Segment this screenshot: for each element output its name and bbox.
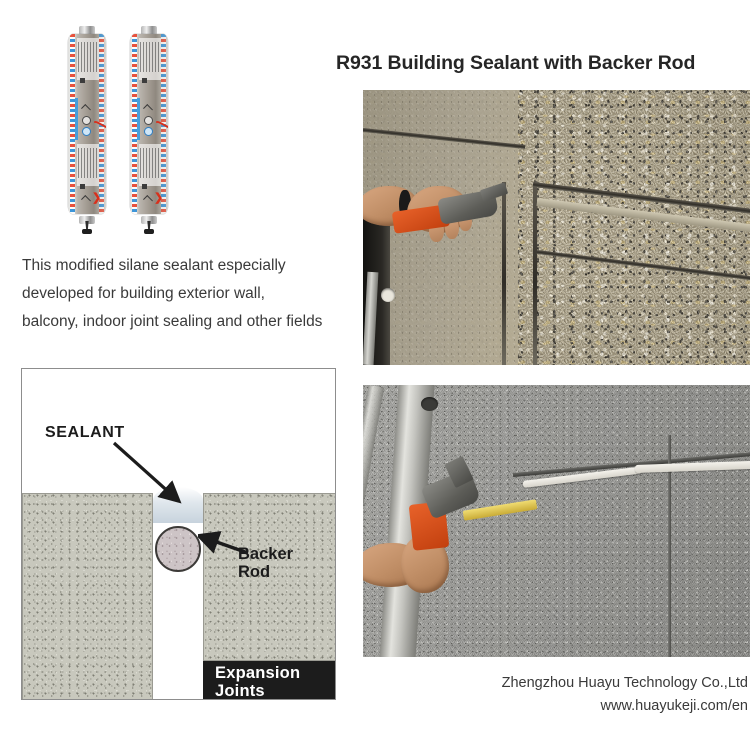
backer-rod-label-line2: Rod [238,563,293,581]
footer: Zhengzhou Huayu Technology Co.,Ltd www.h… [380,672,748,718]
product-shot: 〳 ❯ 〳 ❯ [62,26,190,244]
sealant-arrow-icon [110,439,188,509]
backer-rod-arrow-icon [198,531,252,561]
photo-applying-sealant-horizontal-joint [363,385,750,657]
expansion-joints-line1: Expansion [215,665,300,683]
chevron-up-icon-lower [81,195,91,205]
sealant-cartridge: 〳 ❯ [130,26,168,222]
cartridge-qr-block-top [142,78,147,83]
wall-joint-vertical-2 [533,186,537,365]
cartridge-qr-block-bottom [80,184,85,189]
cartridge-text-lines-top [140,42,160,72]
brand-swoosh-logo: 〳 [145,119,169,132]
description-line-3: balcony, indoor joint sealing and other … [22,308,358,336]
red-check-icon: ❯ [92,194,101,203]
backer-rod [155,526,201,572]
ladder-fitting [381,288,395,302]
cartridge-blue-band [75,98,78,140]
photo-applying-sealant-vertical-joint [363,90,750,365]
description-line-1: This modified silane sealant especially [22,252,358,280]
cartridge-nozzle-cap [144,229,154,234]
cartridge-qr-block-bottom [142,184,147,189]
cartridge-qr-block-top [80,78,85,83]
cartridge-blue-band [137,98,140,140]
company-name: Zhengzhou Huayu Technology Co.,Ltd [380,672,748,695]
wall-joint-vertical [502,182,506,365]
expansion-joints-line2: Joints [215,683,300,701]
cartridge-body: 〳 ❯ [130,34,168,214]
expansion-joints-label: Expansion Joints [215,665,300,700]
ladder-rung-hole [421,397,438,411]
description-line-2: developed for building exterior wall, [22,280,358,308]
concrete-block-left [22,493,153,700]
red-check-icon: ❯ [154,194,163,203]
brand-swoosh-logo: 〳 [83,119,107,132]
cartridge-text-lines-top [78,42,98,72]
joint-cross-section-diagram: SEALANT Backer Rod Expansion Joints [21,368,336,700]
cartridge-nozzle-cap [82,229,92,234]
cartridge-text-lines-bottom [140,148,160,178]
product-description: This modified silane sealant especially … [22,252,358,336]
chevron-up-icon [81,104,91,114]
cartridge-body: 〳 ❯ [68,34,106,214]
chevron-up-icon [143,104,153,114]
sealant-cartridge: 〳 ❯ [68,26,106,222]
cartridge-text-lines-bottom [78,148,98,178]
page-title: R931 Building Sealant with Backer Rod [336,52,750,75]
company-website[interactable]: www.huayukeji.com/en [380,695,748,718]
chevron-up-icon-lower [143,195,153,205]
